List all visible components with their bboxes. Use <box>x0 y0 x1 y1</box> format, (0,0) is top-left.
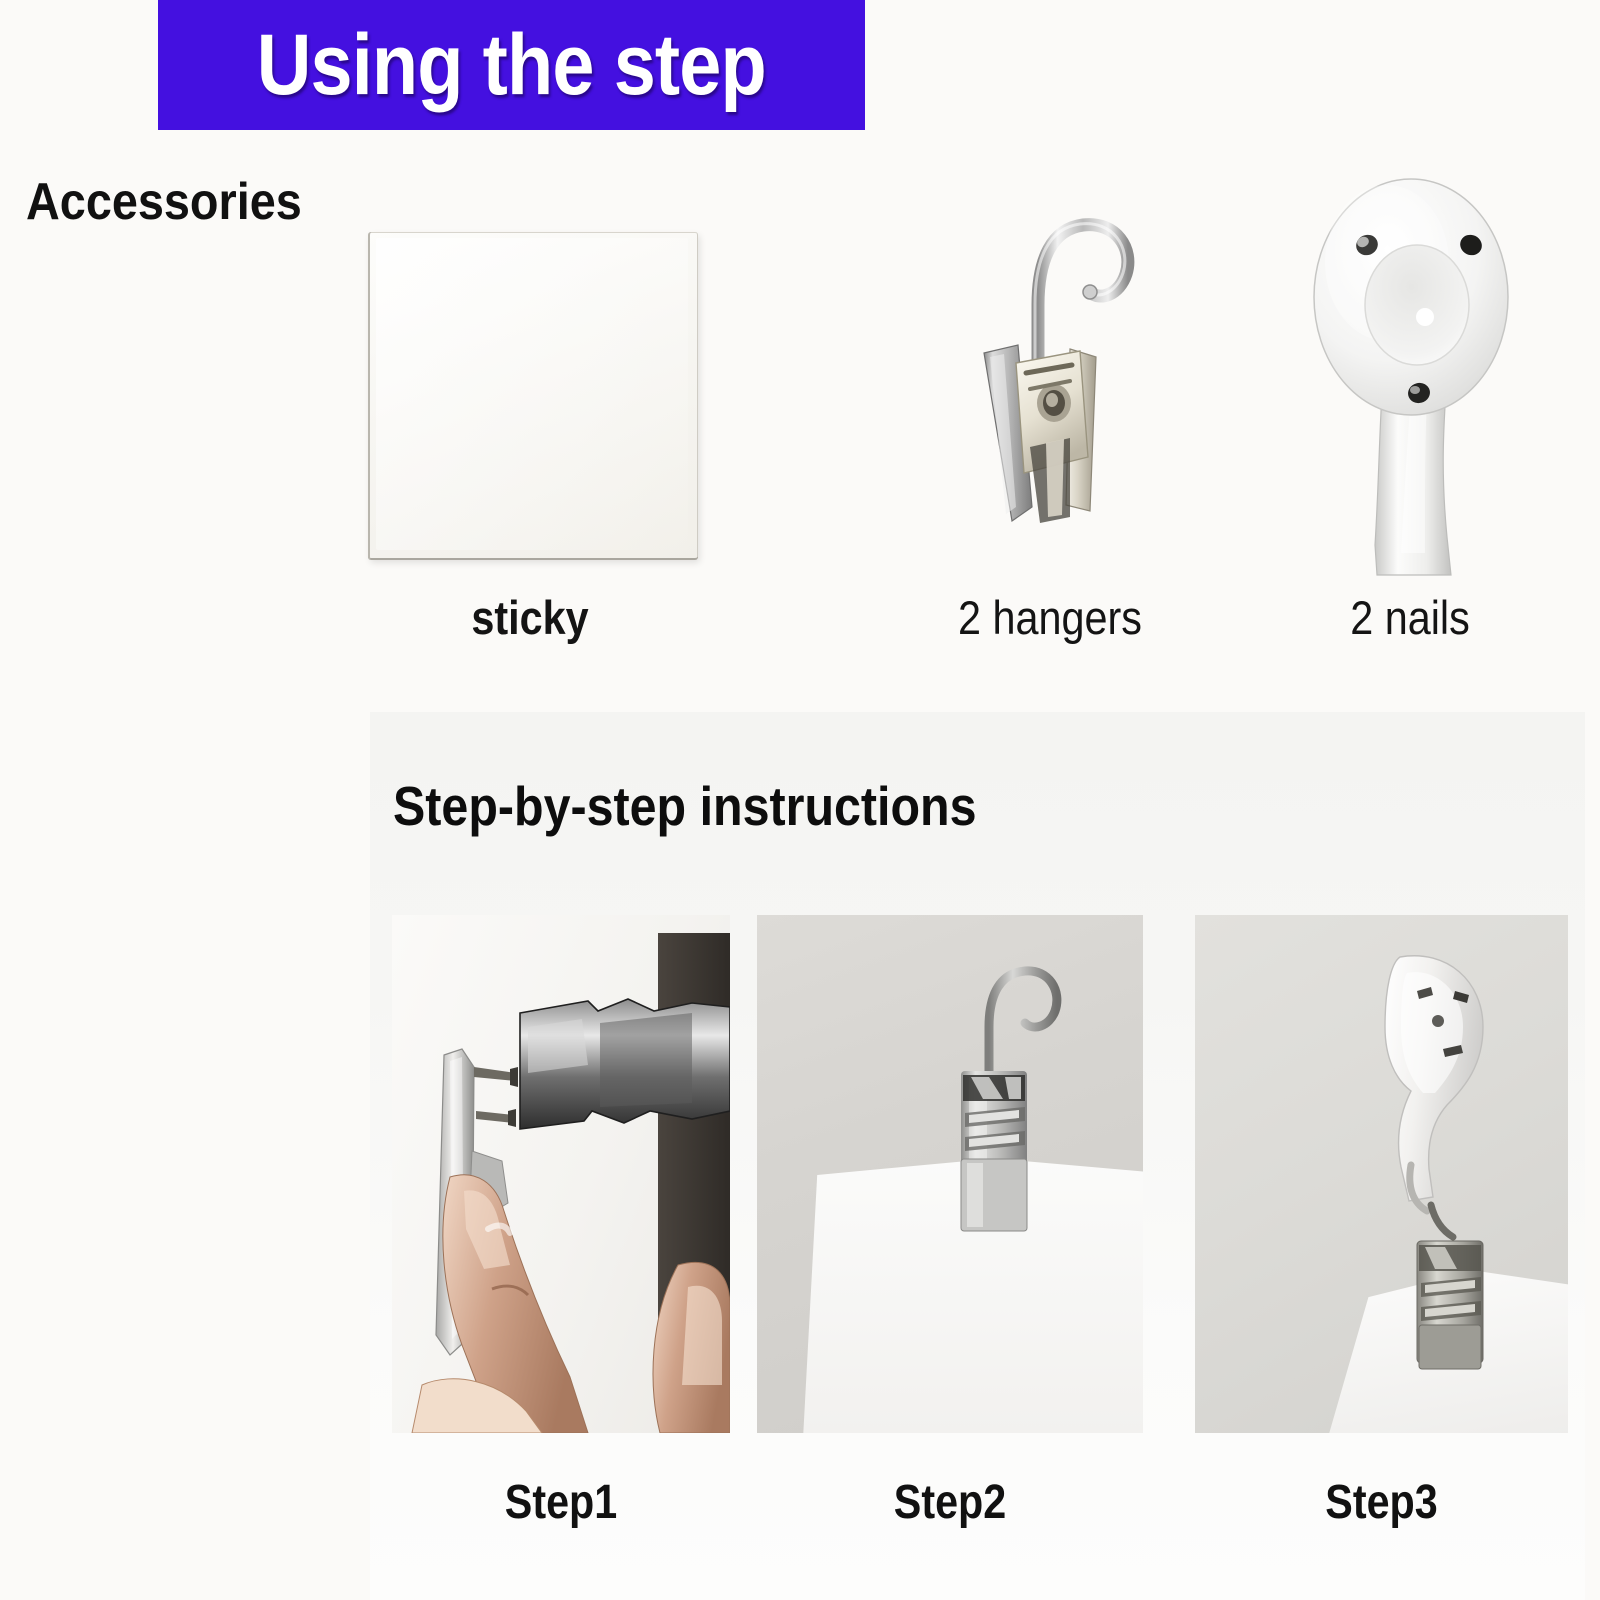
hanger-clip-icon <box>920 155 1180 575</box>
step-label-1: Step1 <box>416 1475 707 1530</box>
step-cell-2: Step2 <box>757 915 1143 1433</box>
sticky-pad-icon <box>368 232 698 560</box>
accessories-row: sticky <box>0 215 1600 695</box>
step-label-2: Step2 <box>784 1475 1116 1530</box>
accessory-label-hangers: 2 hangers <box>865 590 1235 645</box>
steps-row: Step1 <box>370 915 1585 1435</box>
step3-illustration <box>1195 915 1568 1433</box>
hammer-nail-photo <box>392 915 730 1433</box>
step-cell-3: Step3 <box>1195 915 1568 1433</box>
step-cell-1: Step1 <box>392 915 730 1433</box>
instructions-panel: Step-by-step instructions <box>370 712 1585 1600</box>
wall-hook-icon <box>1275 145 1545 575</box>
title-banner: Using the step <box>158 0 865 130</box>
step2-illustration <box>757 915 1143 1433</box>
page-title: Using the step <box>257 22 766 108</box>
accessory-label-nails: 2 nails <box>1252 590 1569 645</box>
step-label-3: Step3 <box>1221 1475 1542 1530</box>
mounted-hook-with-clip-photo <box>1195 915 1568 1433</box>
accessory-label-sticky: sticky <box>328 590 733 645</box>
clip-holding-fabric-photo <box>757 915 1143 1433</box>
instructions-heading: Step-by-step instructions <box>393 774 977 838</box>
step1-illustration <box>392 915 730 1433</box>
